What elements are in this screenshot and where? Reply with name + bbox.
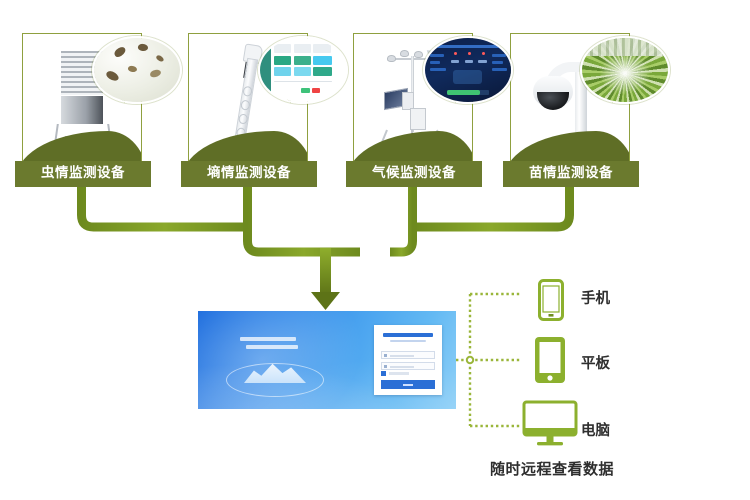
user-icon [384,354,387,357]
remember-checkbox[interactable] [381,371,386,376]
junction-node [467,357,473,363]
branch-weather [390,185,413,252]
password-field[interactable] [381,362,435,370]
login-title [383,333,433,337]
terminal-phone[interactable] [537,278,565,326]
login-panel[interactable] [374,325,442,395]
insect-photo-art [94,38,180,102]
greenhouse-bubble[interactable] [580,36,670,104]
lock-icon [384,365,387,368]
terminal-label-phone: 手机 [581,292,610,307]
dashboard-art [425,38,511,102]
device-card-label-crop: 苗情监测设备 [503,161,639,187]
branch-insect [82,185,248,227]
branch-crop [413,185,570,227]
insect-photo-bubble[interactable] [92,36,182,104]
remember-label [389,372,409,375]
login-submit-button[interactable] [381,380,435,389]
login-subtitle [390,340,426,342]
screen-caption [234,337,320,353]
mobile-phone-icon [537,278,565,322]
username-field[interactable] [381,351,435,359]
data-table-art [260,38,346,102]
greenhouse-art [582,38,668,102]
terminal-label-desktop: 电脑 [581,424,610,439]
tablet-icon [533,335,567,385]
footnote-text: 随时远程查看数据 [490,458,614,479]
caption-line-1 [240,337,296,341]
terminal-label-tablet: 平板 [581,357,610,372]
terminal-tablet[interactable] [533,335,567,389]
terminal-desktop[interactable] [522,400,578,452]
platform-screen[interactable] [198,311,456,409]
merge-arrow-head [311,292,340,310]
device-card-label-insect: 虫情监测设备 [15,161,151,187]
data-table-bubble[interactable] [258,36,348,104]
merge-shaft [320,248,331,296]
diagram-canvas: 虫情监测设备 墒情监测设备 [0,0,750,500]
device-card-label-soil: 墒情监测设备 [181,161,317,187]
branch-soil [248,185,361,252]
caption-line-2 [246,345,298,349]
controller-box-icon [410,108,426,130]
desktop-monitor-icon [522,400,578,448]
device-card-label-weather: 气候监测设备 [346,161,482,187]
camera-lens-icon [537,92,569,110]
dashboard-bubble[interactable] [423,36,513,104]
